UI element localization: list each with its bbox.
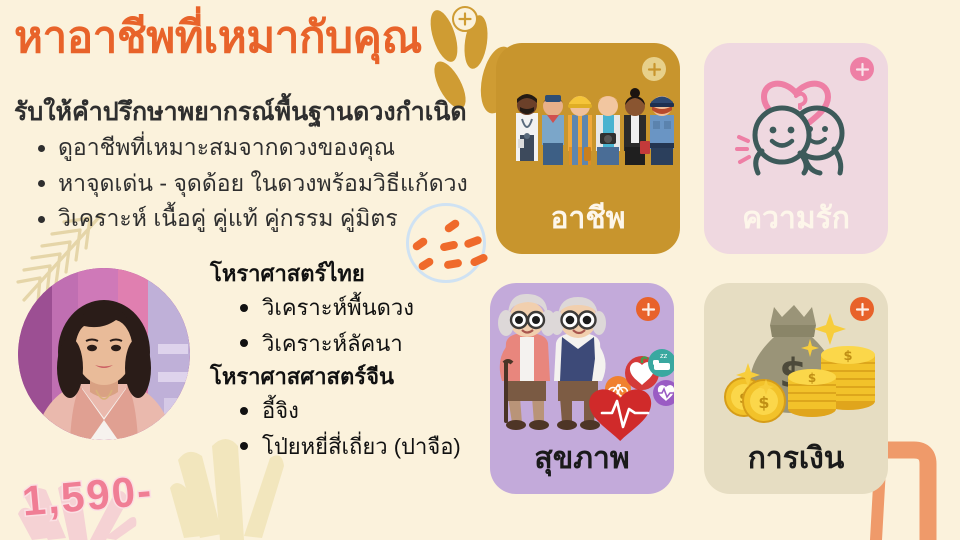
card-label-finance: การเงิน	[704, 435, 888, 482]
plus-badge-career[interactable]	[642, 57, 666, 81]
services-chinese-list: อี้จิง โป่ยหยี่สี่เถี่ยว (ปาจือ)	[236, 393, 461, 464]
plus-icon	[458, 12, 472, 26]
plus-badge-love[interactable]	[850, 57, 874, 81]
poster-canvas: หาอาชีพที่เหมากับคุณ รับให้คำปรึกษาพยากร…	[0, 0, 960, 540]
services-thai-list: วิเคราะห์พื้นดวง วิเคราะห์ลัคนา	[236, 290, 461, 361]
list-item: โป่ยหยี่สี่เถี่ยว (ปาจือ)	[236, 429, 461, 465]
list-item: หาจุดเด่น - จุดด้อย ในดวงพร้อมวิธีแก้ดวง	[34, 166, 468, 202]
category-card-career[interactable]: อาชีพ	[496, 43, 680, 254]
list-item: วิเคราะห์ลัคนา	[236, 326, 461, 362]
svg-text:$: $	[843, 349, 852, 364]
svg-text:zz: zz	[660, 352, 668, 360]
plus-badge-decor-top	[452, 6, 478, 32]
card-label-career: อาชีพ	[496, 195, 680, 242]
services-thai-heading: โหราศาสตร์ไทย	[210, 258, 461, 290]
card-label-love: ความรัก	[704, 195, 888, 242]
page-subtitle: รับให้คำปรึกษาพยากรณ์พื้นฐานดวงกำเนิด	[14, 92, 467, 132]
plus-icon	[648, 63, 661, 76]
plus-badge-finance[interactable]	[850, 297, 874, 321]
svg-text:$: $	[758, 393, 769, 412]
category-card-finance[interactable]: $ $	[704, 283, 888, 494]
avatar	[18, 268, 190, 440]
category-card-love[interactable]: ความรัก	[704, 43, 888, 254]
plus-icon	[642, 303, 655, 316]
list-item: อี้จิง	[236, 393, 461, 429]
card-label-health: สุขภาพ	[490, 435, 674, 482]
page-title: หาอาชีพที่เหมากับคุณ	[14, 14, 422, 62]
plus-icon	[856, 63, 869, 76]
list-item: วิเคราะห์พื้นดวง	[236, 290, 461, 326]
list-item: ดูอาชีพที่เหมาะสมจากดวงของคุณ	[34, 130, 468, 166]
feature-bullet-list: ดูอาชีพที่เหมาะสมจากดวงของคุณ หาจุดเด่น …	[34, 130, 468, 237]
plus-badge-health[interactable]	[636, 297, 660, 321]
plus-icon	[856, 303, 869, 316]
services-block: โหราศาสตร์ไทย วิเคราะห์พื้นดวง วิเคราะห์…	[210, 258, 461, 464]
svg-text:$: $	[808, 371, 816, 385]
price-tag: 1,590-	[20, 466, 155, 525]
list-item: วิเคราะห์ เนื้อคู่ คู่แท้ คู่กรรม คู่มิต…	[34, 201, 468, 237]
services-chinese-heading: โหราศาสศาสตร์จีน	[210, 361, 461, 393]
category-card-health[interactable]: zz สุขภาพ	[490, 283, 674, 494]
